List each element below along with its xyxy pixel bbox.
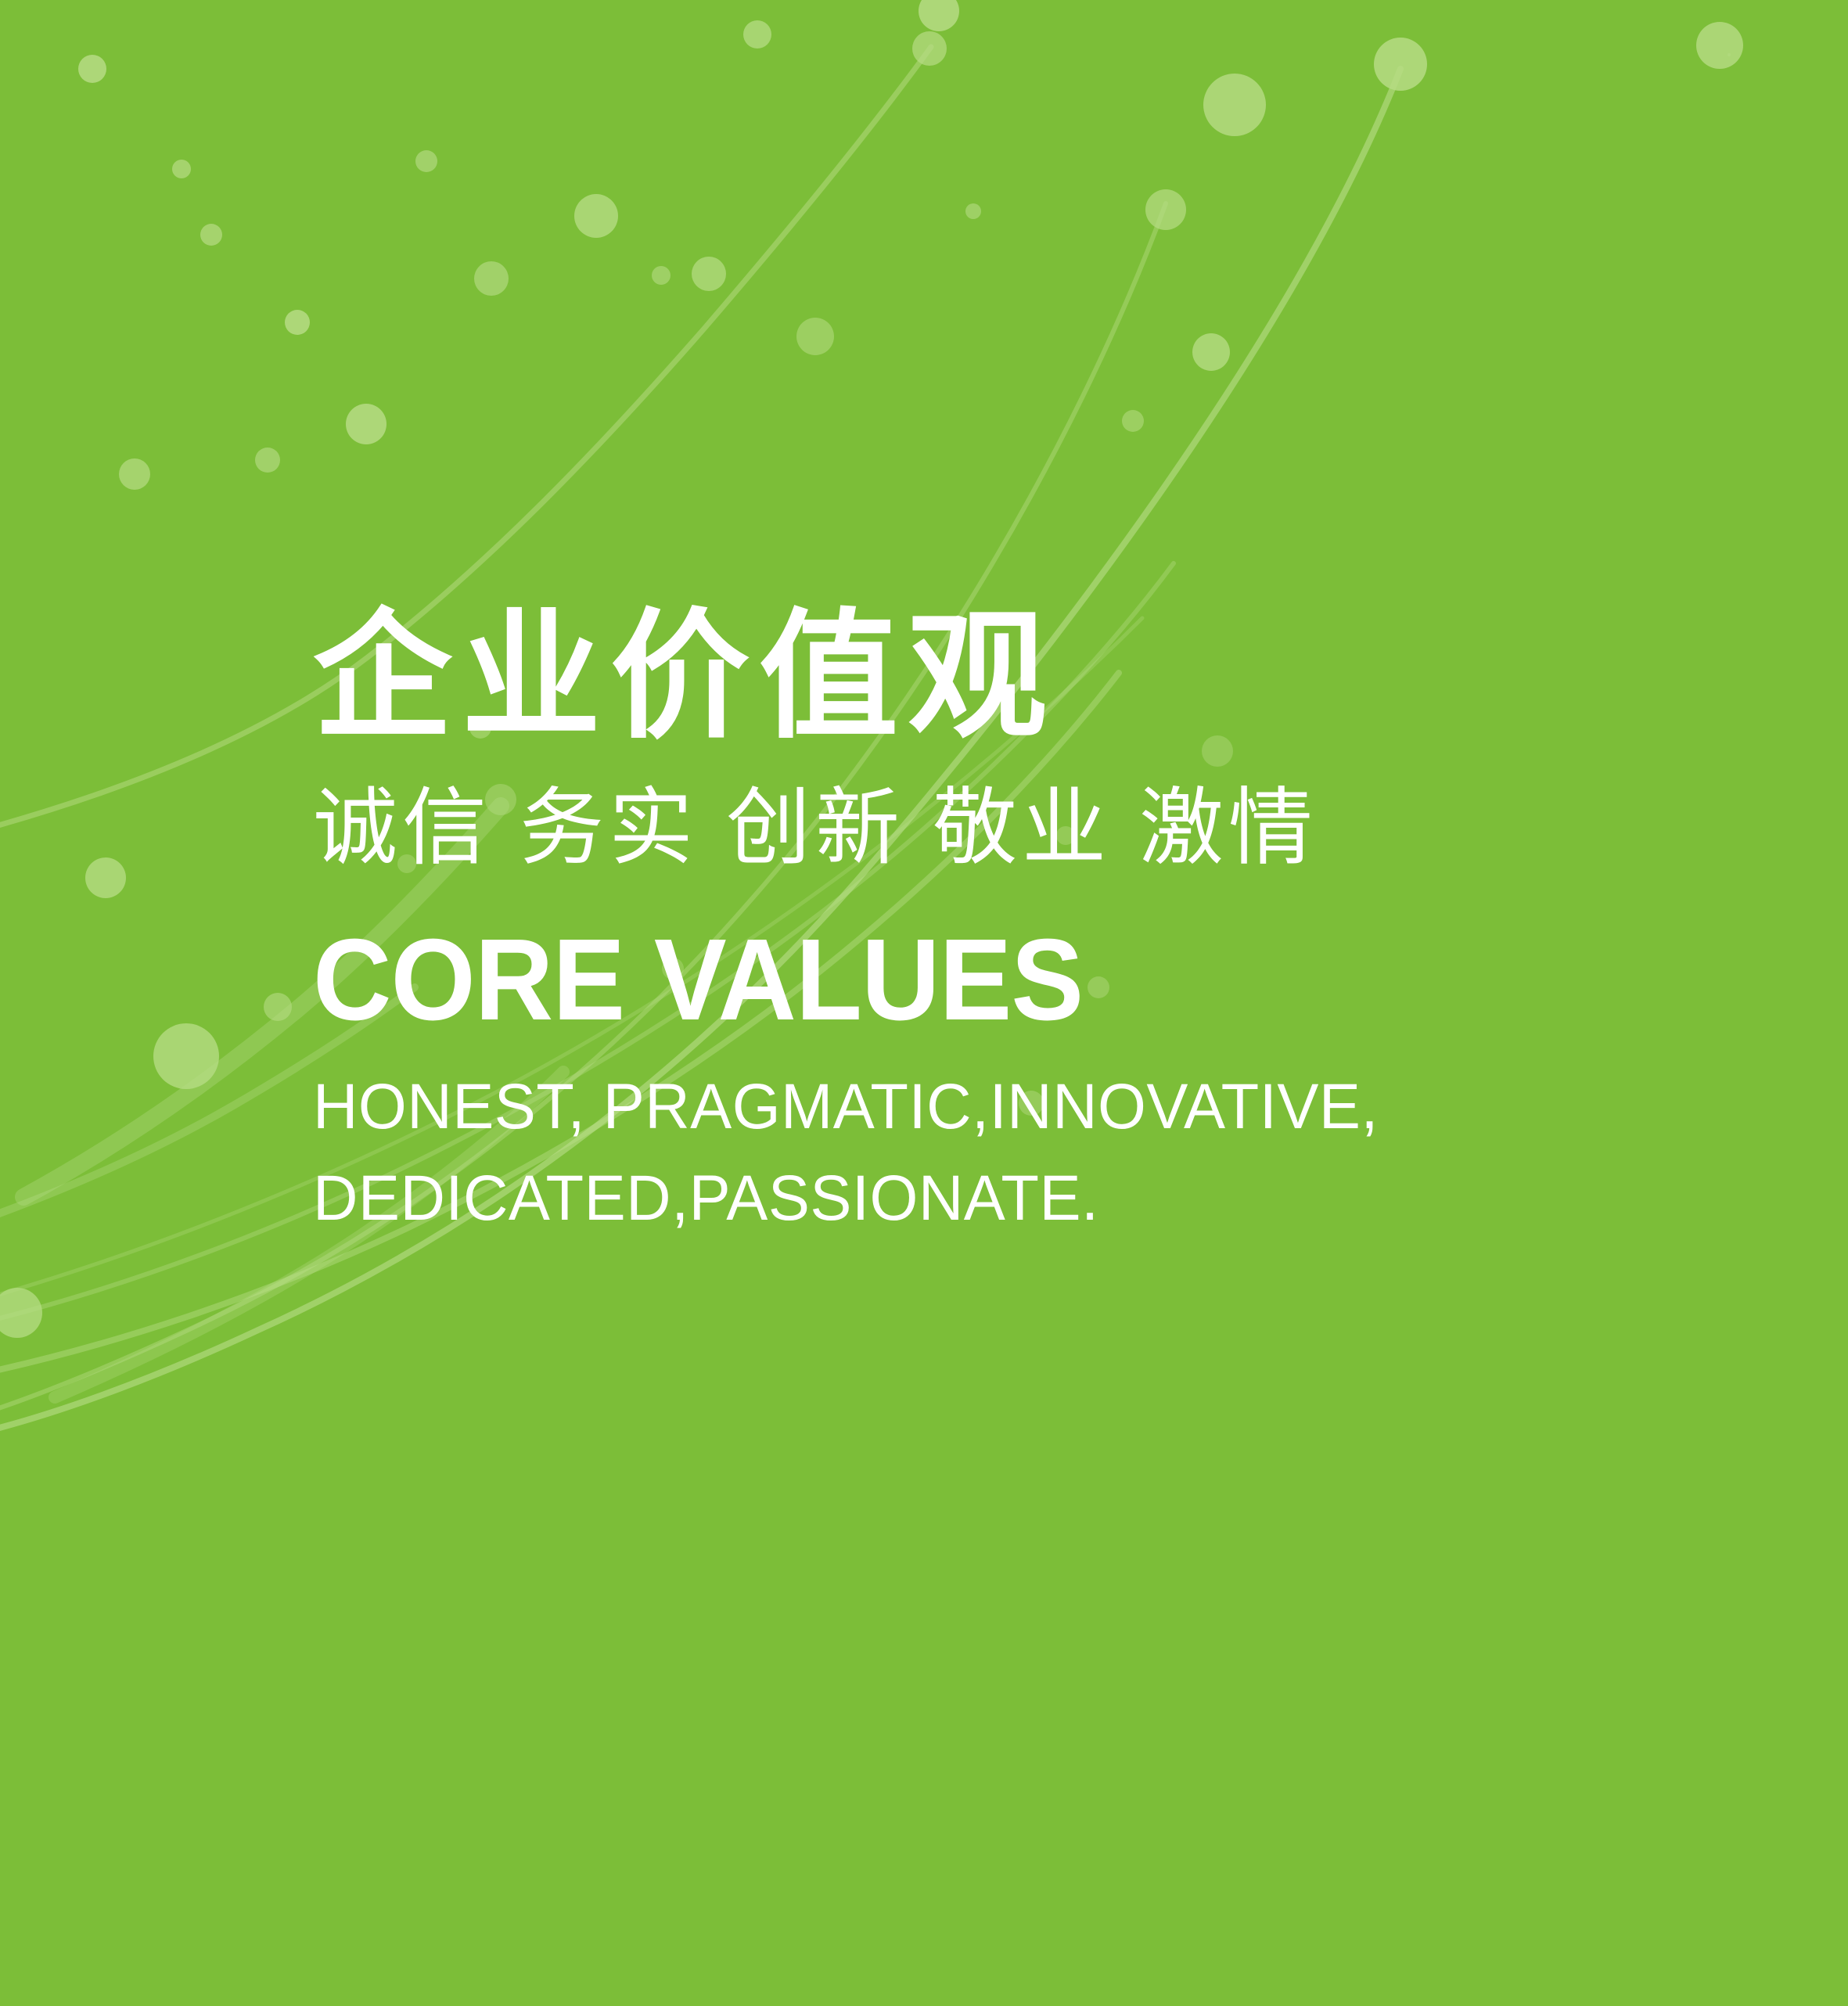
- node-dot: [200, 224, 222, 246]
- english-title: CORE VALUES: [313, 917, 1637, 1044]
- node-dot: [285, 310, 310, 335]
- node-dot: [743, 20, 771, 49]
- node-dot: [1145, 189, 1186, 230]
- node-dot: [1122, 410, 1144, 432]
- english-body: HONEST, PRAGMATIC,INNOVATIVE, DEDICATED,…: [313, 1062, 1679, 1244]
- node-dot: [474, 261, 509, 296]
- core-values-poster: 企业价值观 诚信 务实 创新 敬业 激情 CORE VALUES HONEST,…: [0, 0, 1848, 2006]
- node-dot: [0, 1288, 42, 1338]
- node-dot: [85, 857, 126, 898]
- chinese-title: 企业价值观: [313, 595, 1721, 759]
- node-dot: [919, 0, 959, 31]
- node-dot: [574, 194, 618, 238]
- node-dot: [796, 318, 834, 355]
- node-dot: [1203, 74, 1266, 136]
- node-dot: [1696, 22, 1743, 69]
- node-dot: [264, 993, 292, 1021]
- node-dot: [652, 266, 671, 285]
- node-dot: [172, 160, 191, 178]
- node-dot: [965, 203, 981, 219]
- node-dot: [346, 404, 386, 444]
- node-dot: [1192, 333, 1230, 371]
- node-dot: [1374, 38, 1427, 91]
- node-dot: [78, 55, 106, 83]
- poster-text-block: 企业价值观 诚信 务实 创新 敬业 激情 CORE VALUES HONEST,…: [313, 595, 1721, 1244]
- english-body-line-2: DEDICATED,PASSIONATE.: [313, 1153, 1679, 1244]
- node-dot: [912, 31, 947, 66]
- node-dot: [153, 1023, 219, 1089]
- node-dot: [415, 150, 437, 172]
- node-dot: [692, 257, 726, 291]
- node-dot: [119, 458, 150, 490]
- english-body-line-1: HONEST, PRAGMATIC,INNOVATIVE,: [313, 1062, 1679, 1152]
- node-dot: [255, 448, 280, 473]
- chinese-subtitle: 诚信 务实 创新 敬业 激情: [313, 773, 1721, 883]
